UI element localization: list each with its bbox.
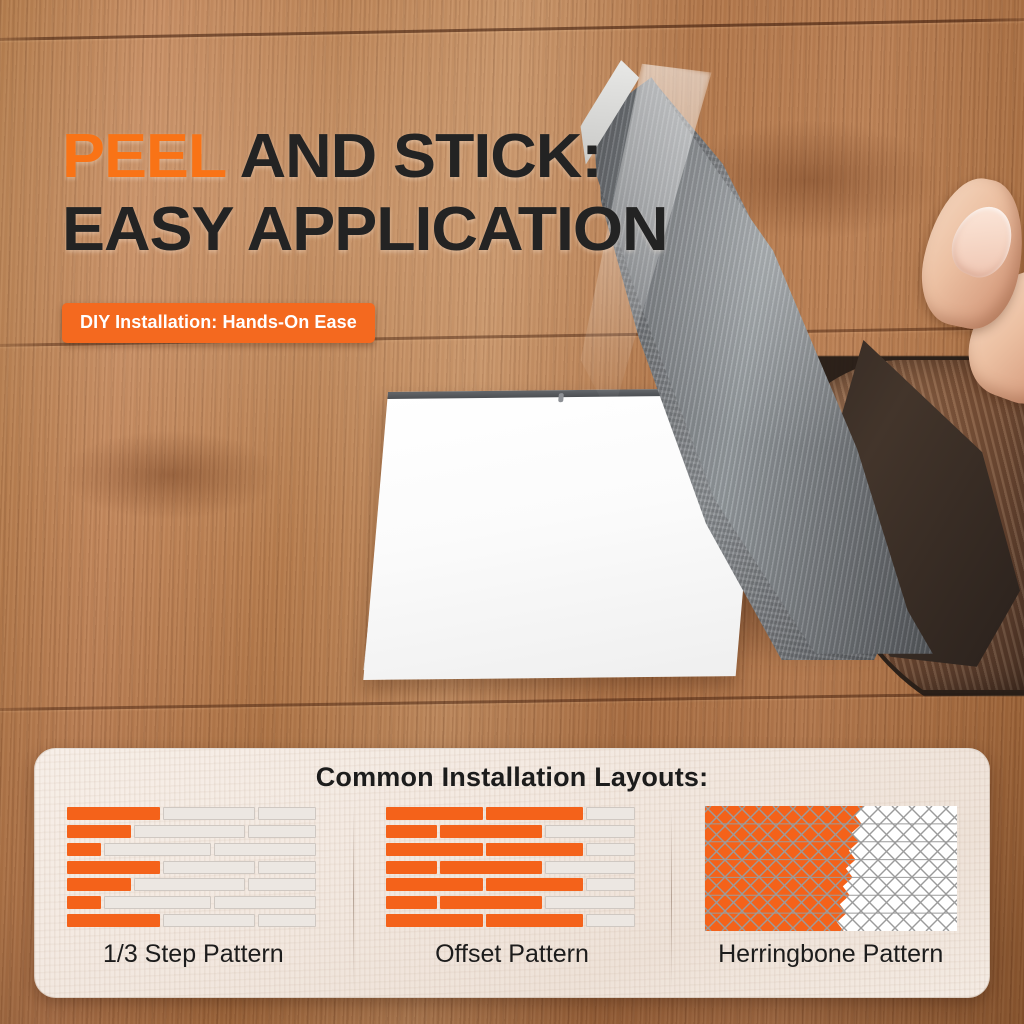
diy-installation-badge: DIY Installation: Hands-On Ease bbox=[62, 303, 375, 343]
brick-row bbox=[67, 861, 319, 874]
tile-brick-filled bbox=[67, 914, 159, 927]
tile-brick-empty bbox=[545, 861, 635, 874]
pattern-cell-herringbone: Herringbone Pattern bbox=[671, 806, 990, 998]
thumbnail bbox=[942, 197, 1022, 286]
brick-row bbox=[67, 807, 319, 820]
tile-brick-filled bbox=[386, 861, 437, 874]
tile-brick-filled bbox=[440, 861, 542, 874]
pattern-cell-list: 1/3 Step PatternOffset PatternHerringbon… bbox=[34, 806, 990, 998]
product-marketing-image: PEEL AND STICK: EASY APPLICATION DIY Ins… bbox=[0, 0, 1024, 1024]
tile-brick-filled bbox=[67, 843, 101, 856]
pattern-swatch-offset bbox=[386, 806, 638, 931]
brick-rowset bbox=[67, 806, 319, 931]
tile-brick-filled bbox=[386, 825, 437, 838]
herringbone-diagram bbox=[705, 806, 957, 931]
pattern-label: Herringbone Pattern bbox=[718, 940, 943, 969]
headline-block: PEEL AND STICK: EASY APPLICATION bbox=[62, 128, 702, 260]
tile-brick-empty bbox=[258, 807, 316, 820]
tile-brick-empty bbox=[586, 843, 635, 856]
tile-brick-filled bbox=[386, 896, 437, 909]
tile-brick-filled bbox=[67, 896, 101, 909]
brick-row bbox=[386, 861, 638, 874]
tile-brick-filled bbox=[67, 825, 130, 838]
tile-brick-empty bbox=[258, 861, 316, 874]
headline-line-2: EASY APPLICATION bbox=[62, 201, 728, 260]
pattern-label: Offset Pattern bbox=[435, 940, 589, 969]
tile-brick-filled bbox=[386, 878, 483, 891]
tile-brick-filled bbox=[486, 914, 583, 927]
tile-brick-empty bbox=[545, 896, 635, 909]
brick-row bbox=[67, 878, 319, 891]
tile-brick-filled bbox=[67, 878, 130, 891]
pattern-cell-step-third: 1/3 Step Pattern bbox=[34, 806, 353, 998]
brick-row bbox=[67, 825, 319, 838]
tile-brick-filled bbox=[67, 861, 159, 874]
tile-brick-empty bbox=[104, 896, 211, 909]
tile-brick-filled bbox=[440, 825, 542, 838]
pattern-swatch-herringbone bbox=[705, 806, 957, 931]
tile-brick-filled bbox=[486, 843, 583, 856]
panel-title: Common Installation Layouts: bbox=[34, 762, 990, 793]
brick-row bbox=[67, 843, 319, 856]
tile-brick-filled bbox=[440, 896, 542, 909]
hand-gripping-tile bbox=[920, 170, 1024, 390]
tile-brick-empty bbox=[545, 825, 635, 838]
tile-brick-empty bbox=[134, 825, 246, 838]
tile-brick-empty bbox=[248, 878, 316, 891]
tile-brick-filled bbox=[486, 878, 583, 891]
tile-brick-filled bbox=[486, 807, 583, 820]
brick-rowset bbox=[386, 806, 638, 931]
brick-row bbox=[67, 914, 319, 927]
tile-brick-empty bbox=[104, 843, 211, 856]
pattern-swatch-step-third bbox=[67, 806, 319, 931]
headline-accent-word: PEEL bbox=[62, 122, 225, 191]
tile-brick-filled bbox=[386, 914, 483, 927]
tile-brick-empty bbox=[214, 843, 316, 856]
brick-row bbox=[386, 807, 638, 820]
pattern-cell-offset: Offset Pattern bbox=[353, 806, 672, 998]
backing-edge-nub bbox=[558, 393, 564, 402]
peel-and-stick-photo bbox=[0, 0, 1024, 720]
tile-brick-filled bbox=[386, 843, 483, 856]
brick-row bbox=[386, 896, 638, 909]
tile-brick-empty bbox=[248, 825, 316, 838]
tile-brick-empty bbox=[586, 878, 635, 891]
headline-line-1: PEEL AND STICK: bbox=[62, 128, 728, 187]
tile-brick-empty bbox=[586, 914, 635, 927]
pattern-label: 1/3 Step Pattern bbox=[103, 940, 284, 969]
brick-row bbox=[386, 843, 638, 856]
tile-brick-empty bbox=[163, 807, 255, 820]
brick-row bbox=[386, 914, 638, 927]
tile-brick-filled bbox=[386, 807, 483, 820]
installation-layouts-panel: Common Installation Layouts: 1/3 Step Pa… bbox=[34, 748, 990, 998]
tile-brick-empty bbox=[134, 878, 246, 891]
tile-brick-filled bbox=[67, 807, 159, 820]
brick-row bbox=[386, 825, 638, 838]
headline-line-1-rest: AND STICK: bbox=[225, 122, 602, 191]
tile-brick-empty bbox=[214, 896, 316, 909]
tile-brick-empty bbox=[586, 807, 635, 820]
tile-brick-empty bbox=[163, 914, 255, 927]
brick-row bbox=[67, 896, 319, 909]
tile-brick-empty bbox=[258, 914, 316, 927]
tile-brick-empty bbox=[163, 861, 255, 874]
brick-row bbox=[386, 878, 638, 891]
